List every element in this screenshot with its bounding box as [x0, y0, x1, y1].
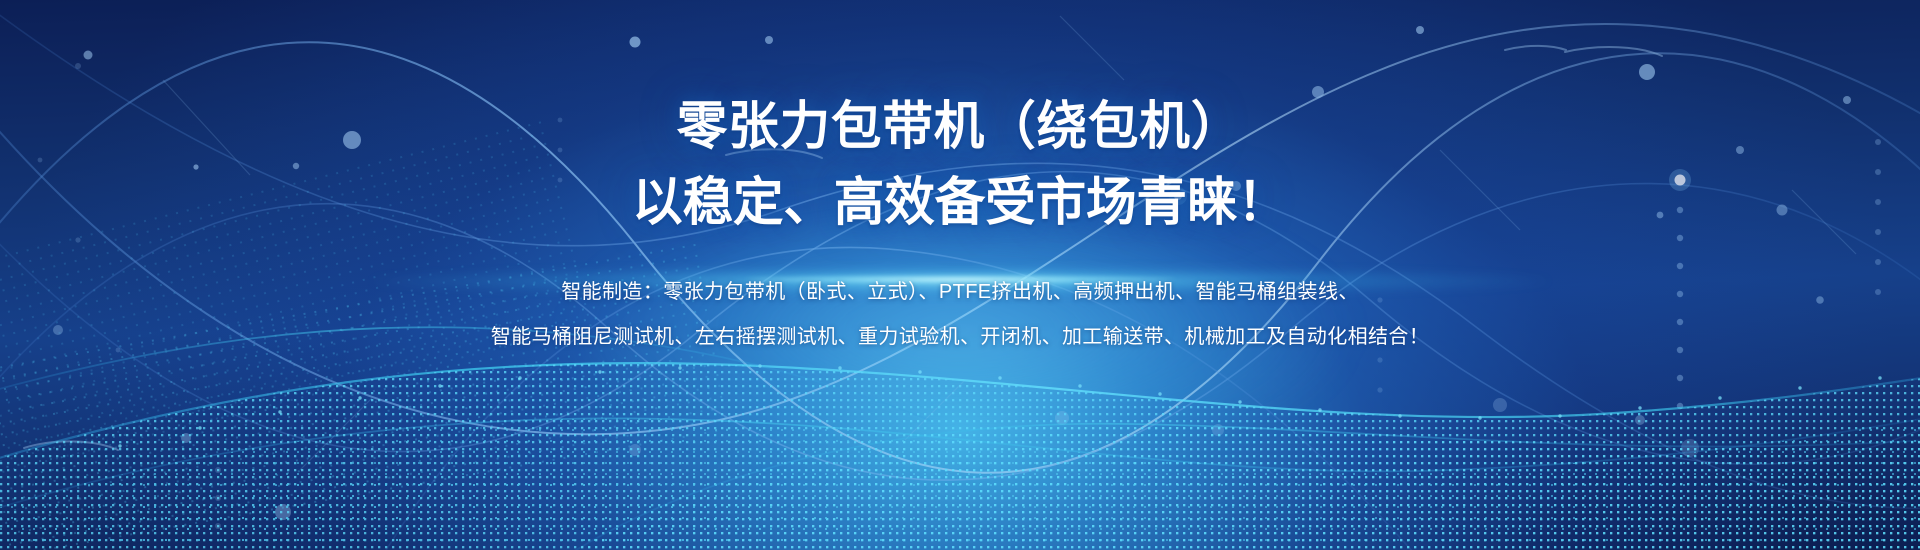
banner-subtitle-line-1: 智能制造：零张力包带机（卧式、立式）、PTFE挤出机、高频押出机、智能马桶组装线… [561, 282, 1359, 302]
banner-headline-line-1: 零张力包带机（绕包机） [677, 101, 1243, 153]
banner-content: 零张力包带机（绕包机） 以稳定、高效备受市场青睐！ 智能制造：零张力包带机（卧式… [0, 0, 1920, 550]
banner-headline-line-2: 以稳定、高效备受市场青睐！ [632, 177, 1288, 229]
banner-subtitle-line-2: 智能马桶阻尼测试机、左右摇摆测试机、重力试验机、开闭机、加工输送带、机械加工及自… [491, 327, 1429, 347]
promo-banner: 零张力包带机（绕包机） 以稳定、高效备受市场青睐！ 智能制造：零张力包带机（卧式… [0, 0, 1920, 550]
